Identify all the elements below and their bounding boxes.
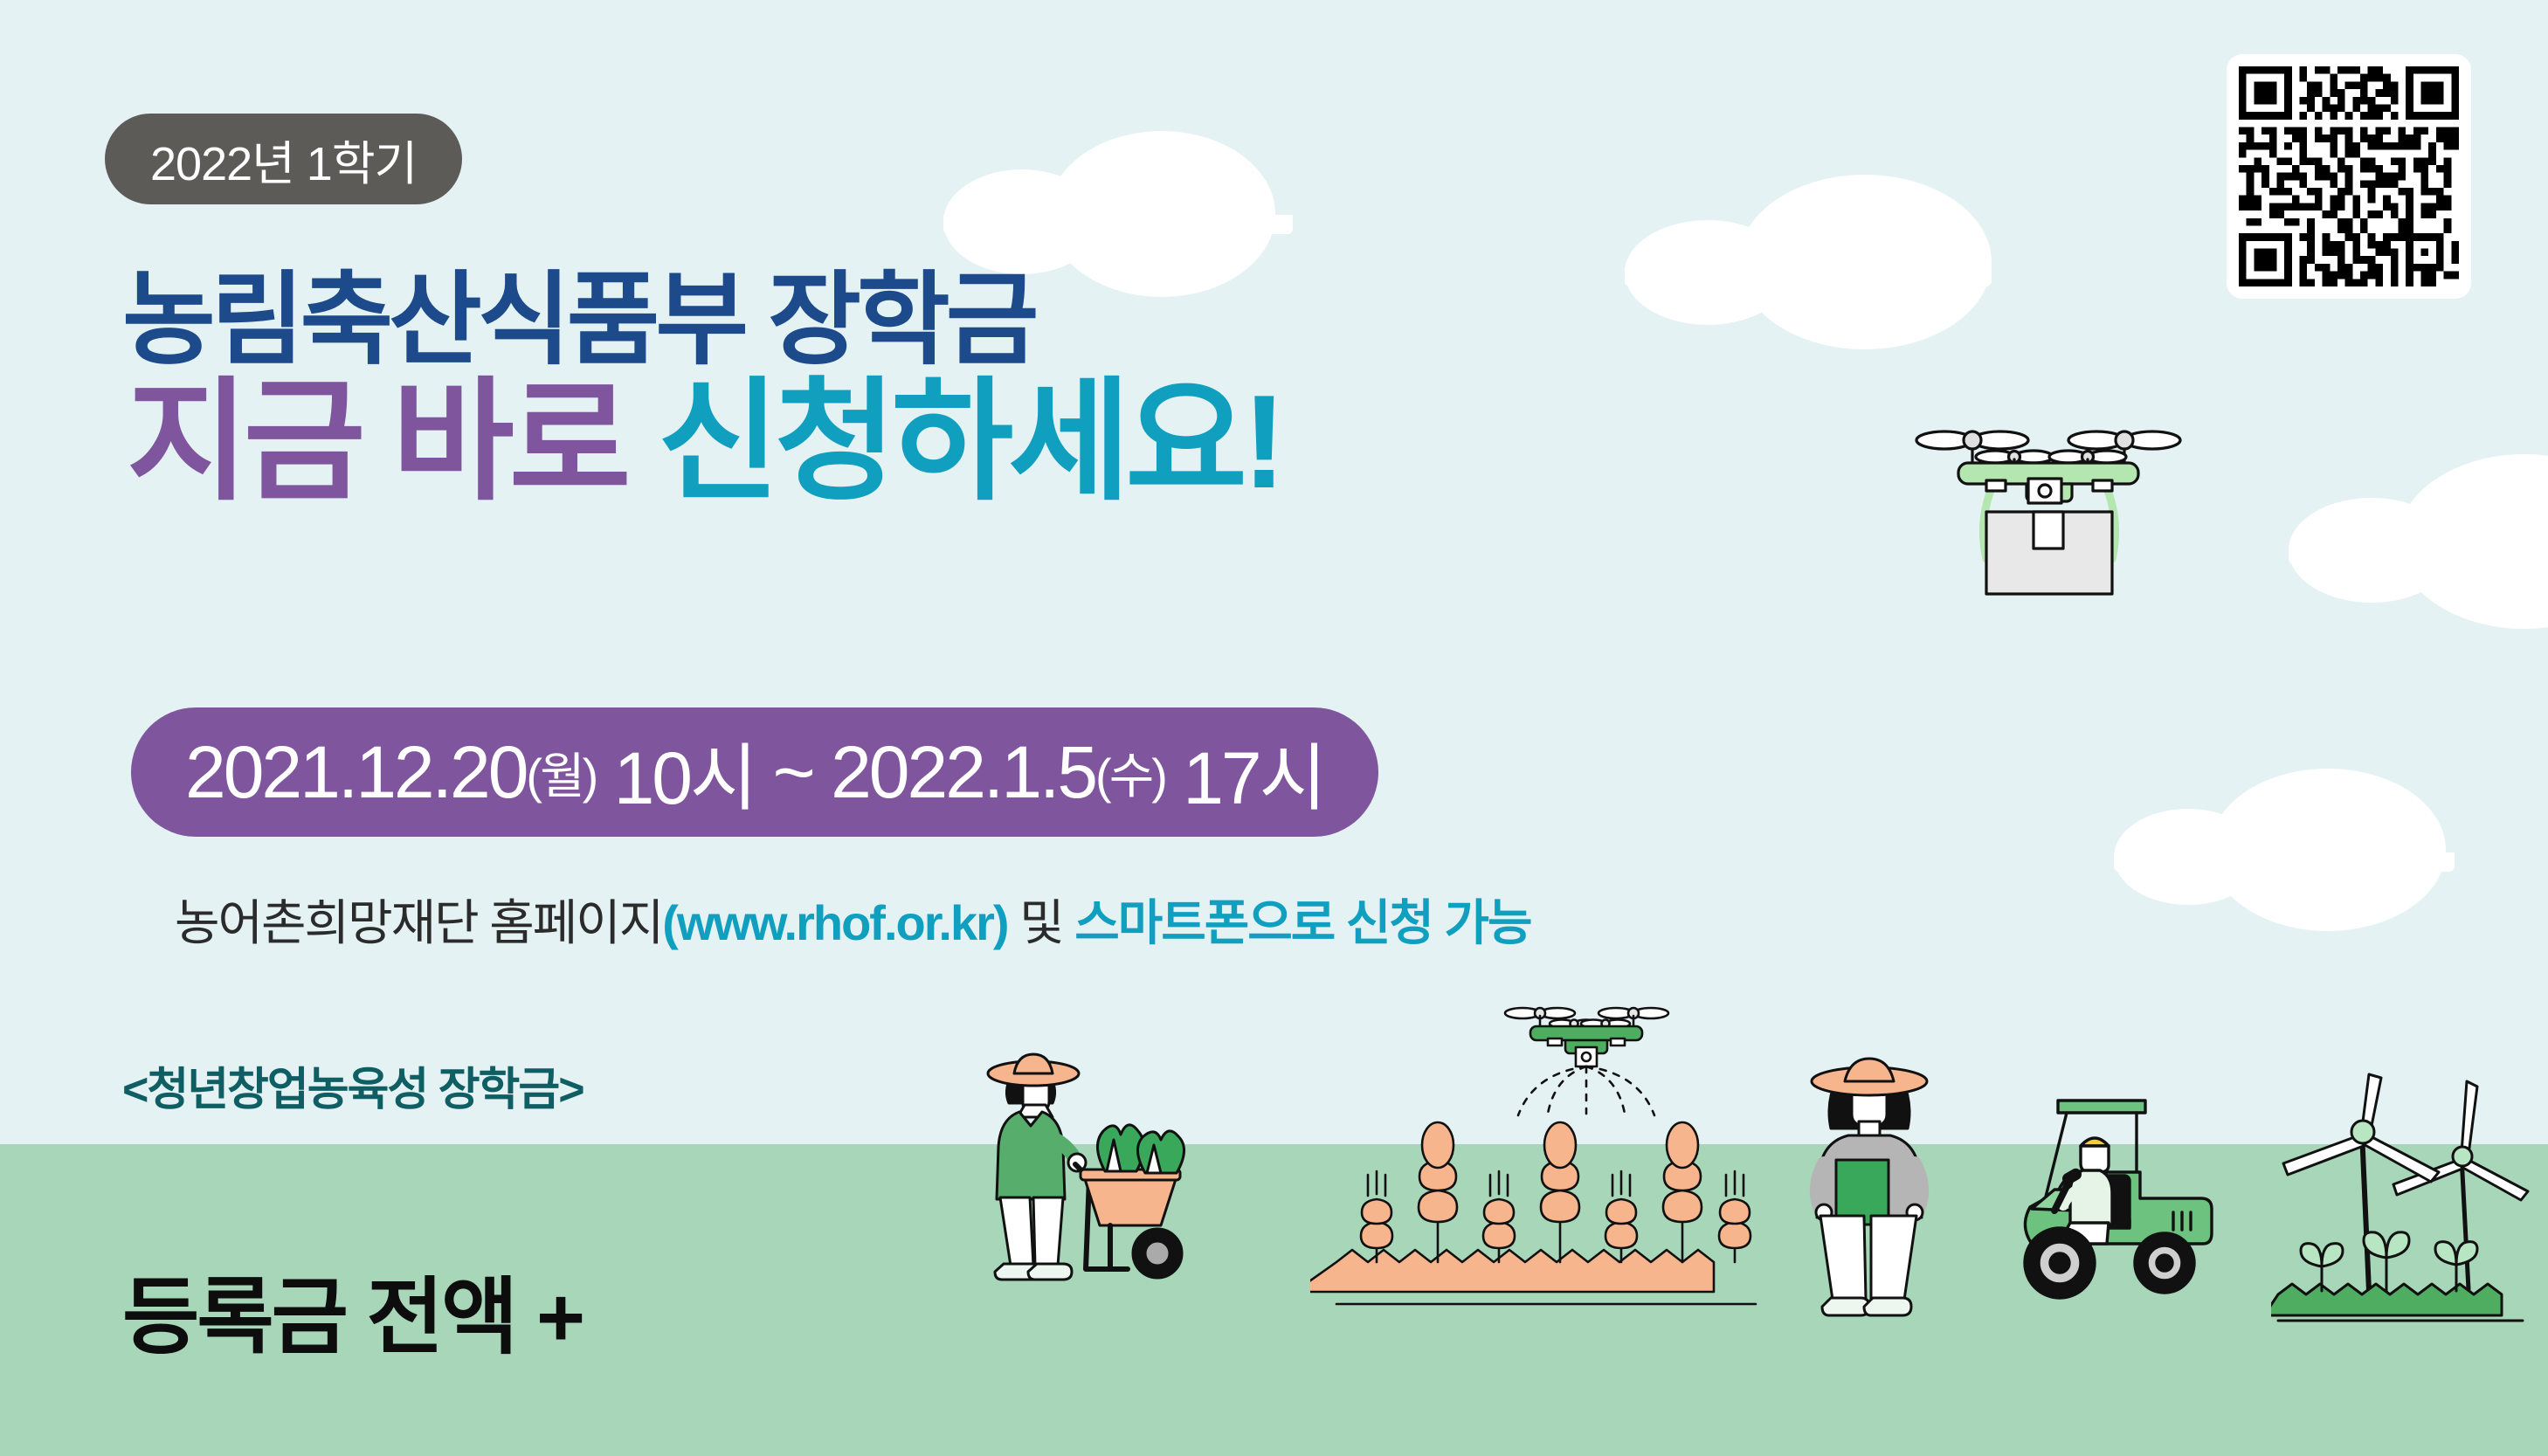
period-end-date: 2022.1.5 [831, 730, 1095, 815]
headline-purple-text: 지금 바로 [127, 368, 658, 516]
delivery-drone-illustration [1878, 409, 2192, 645]
foundation-homepage-label: 농어촌희망재단 홈페이지 [175, 895, 662, 950]
application-period-badge: 2021.12.20(월) 10시 ~ 2022.1.5(수) 17시 [131, 707, 1378, 837]
period-start-date: 2021.12.20 [185, 730, 526, 815]
scholarship-type-title: <청년창업농육성 장학금> [122, 1052, 583, 1118]
benefit-line-1: 등록금 전액 + [122, 1265, 991, 1372]
woman-with-tablet-illustration [1782, 1048, 1957, 1319]
scholarship-poster: 2022년 1학기 농림축산식품부 장학금 지금 바로 신청하세요! 2021.… [0, 0, 2548, 1456]
semester-badge: 2022년 1학기 [105, 114, 462, 204]
page-title: 농림축산식품부 장학금 [122, 238, 1034, 384]
period-end-time: 17시 [1183, 720, 1324, 825]
homepage-url[interactable]: (www.rhof.or.kr) [662, 895, 1007, 950]
application-channel-text: 농어촌희망재단 홈페이지(www.rhof.or.kr) 및 스마트폰으로 신청… [175, 884, 1531, 955]
period-start-time: 10시 [614, 720, 756, 825]
period-start-dayofweek: (월) [526, 737, 596, 808]
wind-turbines-illustration [2271, 1073, 2533, 1326]
conjunction-label: 및 [1008, 895, 1075, 950]
green-tractor-illustration [2009, 1092, 2254, 1310]
farmer-wheelbarrow-illustration [939, 1035, 1236, 1297]
smartphone-apply-label: 스마트폰으로 신청 가능 [1074, 895, 1530, 950]
crop-field-drone-illustration [1310, 974, 1782, 1323]
headline-teal-text: 신청하세요! [658, 368, 1281, 516]
benefit-text: 등록금 전액 + 학업장려금 200만원 지원! [122, 1157, 991, 1456]
period-end-dayofweek: (수) [1095, 737, 1165, 808]
period-separator: ~ [773, 730, 813, 815]
headline-secondary: 지금 바로 신청하세요! [127, 376, 1281, 508]
qr-code[interactable] [2227, 54, 2471, 299]
